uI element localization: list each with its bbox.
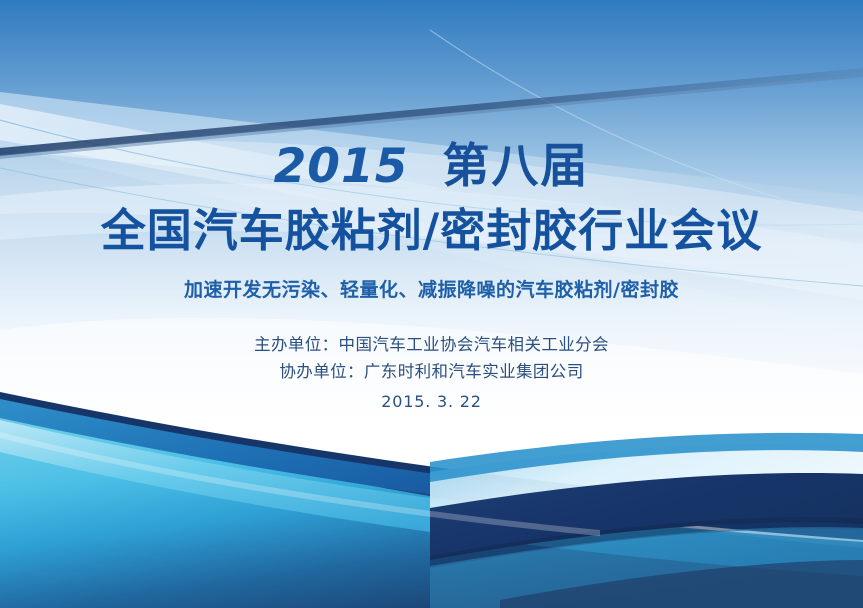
conference-poster: 2015第八届 全国汽车胶粘剂/密封胶行业会议 加速开发无污染、轻量化、减振降噪… (0, 0, 863, 608)
host-organization-line: 主办单位：中国汽车工业协会汽车相关工业分会 (0, 332, 863, 359)
poster-edition: 第八届 (442, 143, 589, 190)
organizers-block: 主办单位：中国汽车工业协会汽车相关工业分会 协办单位：广东时利和汽车实业集团公司… (0, 332, 863, 411)
headline-row: 2015第八届 (0, 143, 863, 190)
co-organizer-line: 协办单位：广东时利和汽车实业集团公司 (0, 359, 863, 386)
poster-year: 2015 (274, 143, 409, 190)
event-date: 2015. 3. 22 (0, 392, 863, 411)
poster-background-artwork (0, 0, 863, 608)
poster-main-title: 全国汽车胶粘剂/密封胶行业会议 (0, 206, 863, 256)
poster-subtitle: 加速开发无污染、轻量化、减振降噪的汽车胶粘剂/密封胶 (0, 279, 863, 302)
